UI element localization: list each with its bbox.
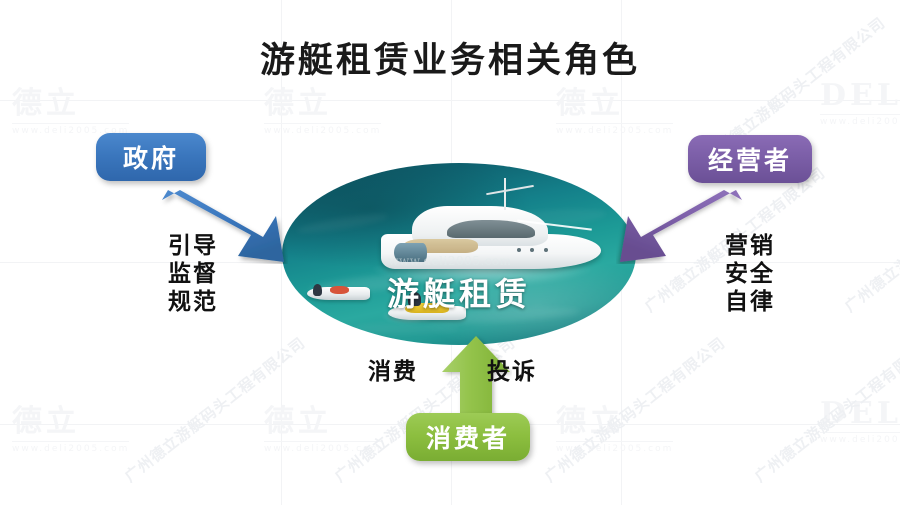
watermark-brand-logo: 德立 www.deli2005.com (12, 78, 129, 136)
watermark-brand-sub: www.deli2005.com (264, 123, 381, 136)
watermark-brand-sub: www.deli2005.com (556, 123, 673, 136)
watermark-brand-logo: 德立 www.deli2005.com (264, 78, 381, 136)
sea-background: www.deli2005.com 游艇租赁 (282, 163, 636, 345)
watermark-brand-logo: 德立 www.deli2005.com (264, 396, 381, 454)
slide-canvas: 德立 www.deli2005.com 德立 www.deli2005.com … (0, 0, 900, 505)
watermark-gridline (0, 100, 900, 101)
watermark-brand-sub: www.deli2005.com (820, 114, 900, 127)
yacht-mast (504, 178, 506, 209)
watermark-brand-sub: www.deli2005.com (12, 441, 129, 454)
center-caption: 游艇租赁 (282, 269, 636, 315)
watermark-company-text: 广州德立游艇码头工程有限公司 (750, 332, 900, 486)
watermark-brand-cn: 德立 (556, 86, 624, 121)
watermark-brand-cn: 德立 (264, 404, 332, 439)
government-flow-labels: 引导 监督 规范 (155, 232, 231, 316)
yacht-antenna (487, 185, 535, 195)
watermark-company-text: 广州德立游艇码头工程有限公司 (120, 332, 309, 486)
watermark-brand-logo: 德立 www.deli2005.com (556, 396, 673, 454)
photo-watermark-url: www.deli2005.com (388, 254, 511, 268)
watermark-brand-cn: 德立 (12, 86, 80, 121)
watermark-company-text: 广州德立游艇码头工程有限公司 (840, 162, 900, 316)
yacht-porthole (544, 248, 548, 252)
watermark-brand-logo: 德立 www.deli2005.com (556, 78, 673, 136)
watermark-brand-logo: DELI www.deli2005.com (820, 78, 900, 127)
watermark-brand-cn: 德立 (12, 404, 80, 439)
watermark-brand-en: DELI (820, 78, 900, 113)
consumer-flow-label-complaint: 投诉 (487, 358, 537, 386)
watermark-brand-logo: DELI www.deli2005.com (820, 396, 900, 445)
operator-flow-line: 自律 (712, 288, 788, 316)
yacht-cabin-window (447, 220, 535, 237)
water-shimmer (296, 210, 389, 235)
government-flow-line: 规范 (155, 288, 231, 316)
operator-flow-line: 安全 (712, 260, 788, 288)
center-yacht-photo: www.deli2005.com 游艇租赁 (282, 163, 636, 345)
operator-flow-line: 营销 (712, 232, 788, 260)
watermark-brand-cn: 德立 (264, 86, 332, 121)
watermark-brand-logo: 德立 www.deli2005.com (12, 396, 129, 454)
page-title: 游艇租赁业务相关角色 (0, 32, 900, 83)
watermark-brand-sub: www.deli2005.com (264, 441, 381, 454)
watermark-brand-sub: www.deli2005.com (820, 432, 900, 445)
watermark-brand-sub: www.deli2005.com (556, 441, 673, 454)
government-flow-line: 引导 (155, 232, 231, 260)
role-box-consumer[interactable]: 消费者 (406, 413, 530, 461)
consumer-flow-label-purchase: 消费 (368, 358, 418, 386)
government-flow-line: 监督 (155, 260, 231, 288)
role-box-operator[interactable]: 经营者 (688, 135, 812, 183)
watermark-company-text: 广州德立游艇码头工程有限公司 (540, 332, 729, 486)
water-shimmer (353, 323, 459, 334)
watermark-brand-en: DELI (820, 396, 900, 431)
role-box-government[interactable]: 政府 (96, 133, 206, 181)
operator-flow-labels: 营销 安全 自律 (712, 232, 788, 316)
watermark-brand-cn: 德立 (556, 404, 624, 439)
